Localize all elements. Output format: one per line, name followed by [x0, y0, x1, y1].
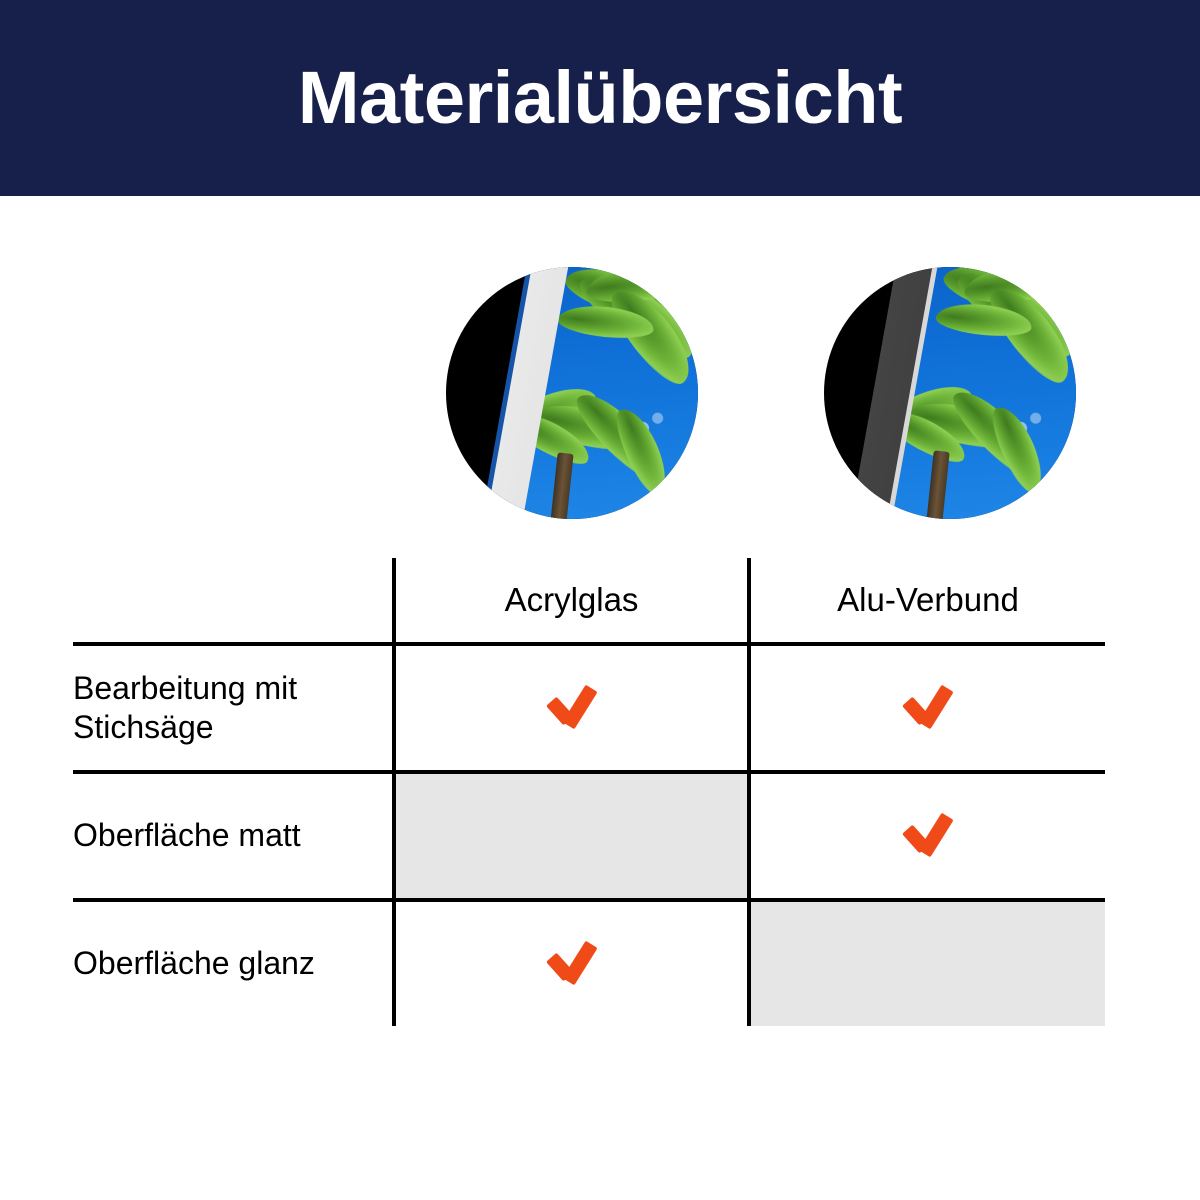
- column-header-alu-verbund: Alu-Verbund: [749, 558, 1105, 644]
- material-overview-page: Materialübersicht: [0, 0, 1200, 1200]
- sample-image-alu-verbund: [824, 267, 1076, 519]
- check-icon: [901, 684, 955, 728]
- row-label-bearbeitung-stichsaege: Bearbeitung mit Stichsäge: [73, 644, 394, 772]
- cell-glanz-alu-verbund: [749, 900, 1105, 1026]
- table-corner-cell: [73, 558, 394, 644]
- cell-bearbeitung-acrylglas: [394, 644, 749, 772]
- header-banner: Materialübersicht: [0, 0, 1200, 196]
- column-header-acrylglas: Acrylglas: [394, 558, 749, 644]
- alu-verbund-panel-scene: [824, 267, 1076, 519]
- row-label-line-1: Oberfläche glanz: [73, 944, 392, 983]
- table-row: Oberfläche glanz: [73, 900, 1105, 1026]
- acrylglas-edge-band: [446, 267, 698, 519]
- table-row: Oberfläche matt: [73, 772, 1105, 900]
- check-icon: [545, 940, 599, 984]
- row-label-oberflaeche-matt: Oberfläche matt: [73, 772, 394, 900]
- page-title: Materialübersicht: [298, 61, 902, 135]
- row-label-oberflaeche-glanz: Oberfläche glanz: [73, 900, 394, 1026]
- table-header-row: Acrylglas Alu-Verbund: [73, 558, 1105, 644]
- table-row: Bearbeitung mit Stichsäge: [73, 644, 1105, 772]
- acrylglas-panel-scene: [446, 267, 698, 519]
- row-label-line-2: Stichsäge: [73, 708, 392, 747]
- cell-matt-acrylglas: [394, 772, 749, 900]
- material-comparison-table: Acrylglas Alu-Verbund Bearbeitung mit St…: [73, 558, 1105, 1026]
- alu-verbund-edge-band: [824, 267, 1076, 519]
- cell-matt-alu-verbund: [749, 772, 1105, 900]
- material-comparison-table-wrap: Acrylglas Alu-Verbund Bearbeitung mit St…: [73, 558, 1105, 1014]
- row-label-line-1: Bearbeitung mit: [73, 669, 392, 708]
- material-samples-row: [0, 267, 1200, 519]
- check-icon: [545, 684, 599, 728]
- row-label-line-1: Oberfläche matt: [73, 816, 392, 855]
- check-icon: [901, 812, 955, 856]
- cell-glanz-acrylglas: [394, 900, 749, 1026]
- sample-image-acrylglas: [446, 267, 698, 519]
- cell-bearbeitung-alu-verbund: [749, 644, 1105, 772]
